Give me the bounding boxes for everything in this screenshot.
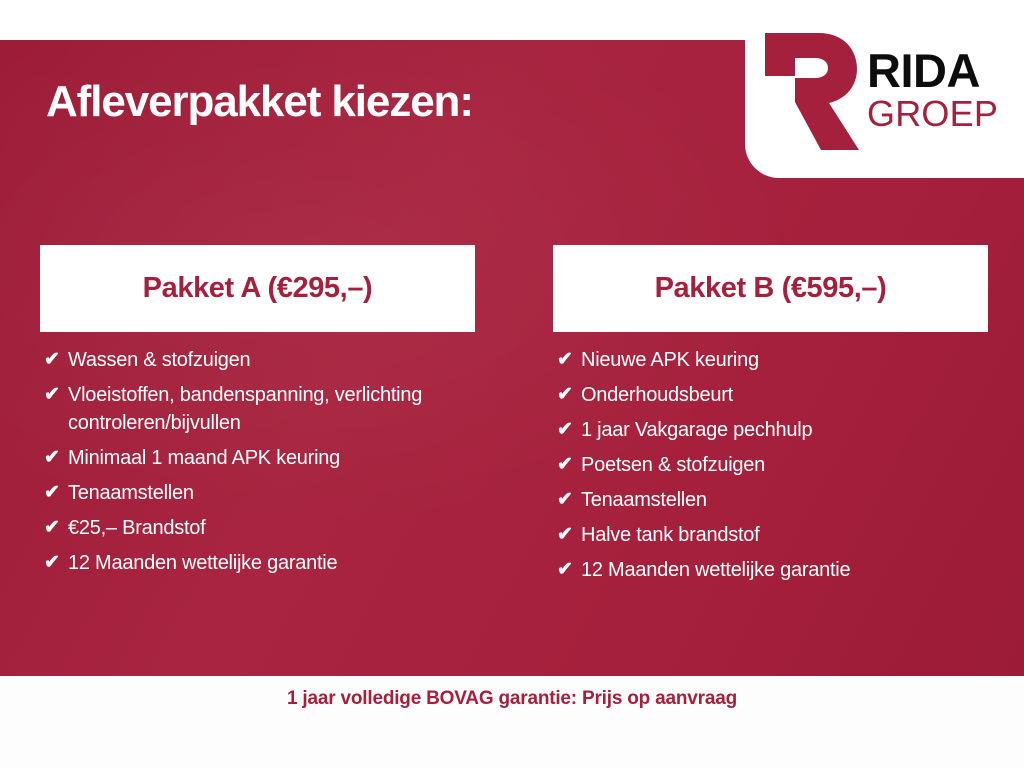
packages-container: Pakket A (€295,–) ✔ Wassen & stofzuigen … (0, 245, 1024, 591)
package-a-header: Pakket A (€295,–) (40, 245, 475, 332)
check-icon: ✔ (553, 451, 581, 479)
package-b-header: Pakket B (€595,–) (553, 245, 988, 332)
check-icon: ✔ (553, 416, 581, 444)
list-item: ✔ Wassen & stofzuigen (40, 346, 475, 374)
footer-guarantee-text: 1 jaar volledige BOVAG garantie: Prijs o… (287, 688, 737, 710)
check-icon: ✔ (553, 486, 581, 514)
check-icon: ✔ (40, 444, 68, 472)
package-b-title: Pakket B (€595,–) (655, 272, 887, 305)
list-item-label: Tenaamstellen (581, 486, 707, 514)
page-title: Afleverpakket kiezen: (46, 78, 473, 126)
list-item-label: Tenaamstellen (68, 479, 194, 507)
list-item-label: 12 Maanden wettelijke garantie (581, 556, 850, 584)
list-item: ✔ Nieuwe APK keuring (553, 346, 988, 374)
check-icon: ✔ (40, 381, 68, 409)
package-column-b: Pakket B (€595,–) ✔ Nieuwe APK keuring ✔… (553, 245, 988, 591)
list-item-label: 1 jaar Vakgarage pechhulp (581, 416, 812, 444)
list-item: ✔ 12 Maanden wettelijke garantie (553, 556, 988, 584)
check-icon: ✔ (40, 479, 68, 507)
list-item: ✔ Onderhoudsbeurt (553, 381, 988, 409)
list-item-label: Minimaal 1 maand APK keuring (68, 444, 340, 472)
list-item: ✔ Tenaamstellen (40, 479, 475, 507)
list-item-label: Poetsen & stofzuigen (581, 451, 765, 479)
rida-r-monogram-icon (757, 29, 861, 154)
check-icon: ✔ (40, 514, 68, 542)
list-item: ✔ Poetsen & stofzuigen (553, 451, 988, 479)
check-icon: ✔ (40, 346, 68, 374)
package-b-feature-list: ✔ Nieuwe APK keuring ✔ Onderhoudsbeurt ✔… (553, 332, 988, 584)
check-icon: ✔ (553, 381, 581, 409)
list-item-label: 12 Maanden wettelijke garantie (68, 549, 337, 577)
slide-root: Afleverpakket kiezen: RIDA GROEP Pakket … (0, 0, 1024, 768)
list-item-label: Onderhoudsbeurt (581, 381, 733, 409)
logo-panel: RIDA GROEP (745, 0, 1024, 178)
list-item: ✔ €25,– Brandstof (40, 514, 475, 542)
list-item-label: Vloeistoffen, bandenspanning, verlichtin… (68, 381, 475, 437)
list-item: ✔ Tenaamstellen (553, 486, 988, 514)
logo-subtitle: GROEP (867, 95, 998, 133)
check-icon: ✔ (40, 549, 68, 577)
logo-name: RIDA (867, 49, 998, 94)
list-item-label: Halve tank brandstof (581, 521, 759, 549)
check-icon: ✔ (553, 556, 581, 584)
logo-wordmark: RIDA GROEP (867, 49, 998, 133)
list-item-label: €25,– Brandstof (68, 514, 205, 542)
list-item: ✔ Vloeistoffen, bandenspanning, verlicht… (40, 381, 475, 437)
list-item: ✔ 1 jaar Vakgarage pechhulp (553, 416, 988, 444)
package-a-feature-list: ✔ Wassen & stofzuigen ✔ Vloeistoffen, ba… (40, 332, 475, 577)
check-icon: ✔ (553, 521, 581, 549)
package-column-a: Pakket A (€295,–) ✔ Wassen & stofzuigen … (40, 245, 475, 591)
list-item: ✔ Halve tank brandstof (553, 521, 988, 549)
footer-bar: 1 jaar volledige BOVAG garantie: Prijs o… (0, 676, 1024, 768)
list-item-label: Wassen & stofzuigen (68, 346, 250, 374)
check-icon: ✔ (553, 346, 581, 374)
list-item: ✔ 12 Maanden wettelijke garantie (40, 549, 475, 577)
list-item: ✔ Minimaal 1 maand APK keuring (40, 444, 475, 472)
package-a-title: Pakket A (€295,–) (143, 272, 373, 305)
list-item-label: Nieuwe APK keuring (581, 346, 759, 374)
